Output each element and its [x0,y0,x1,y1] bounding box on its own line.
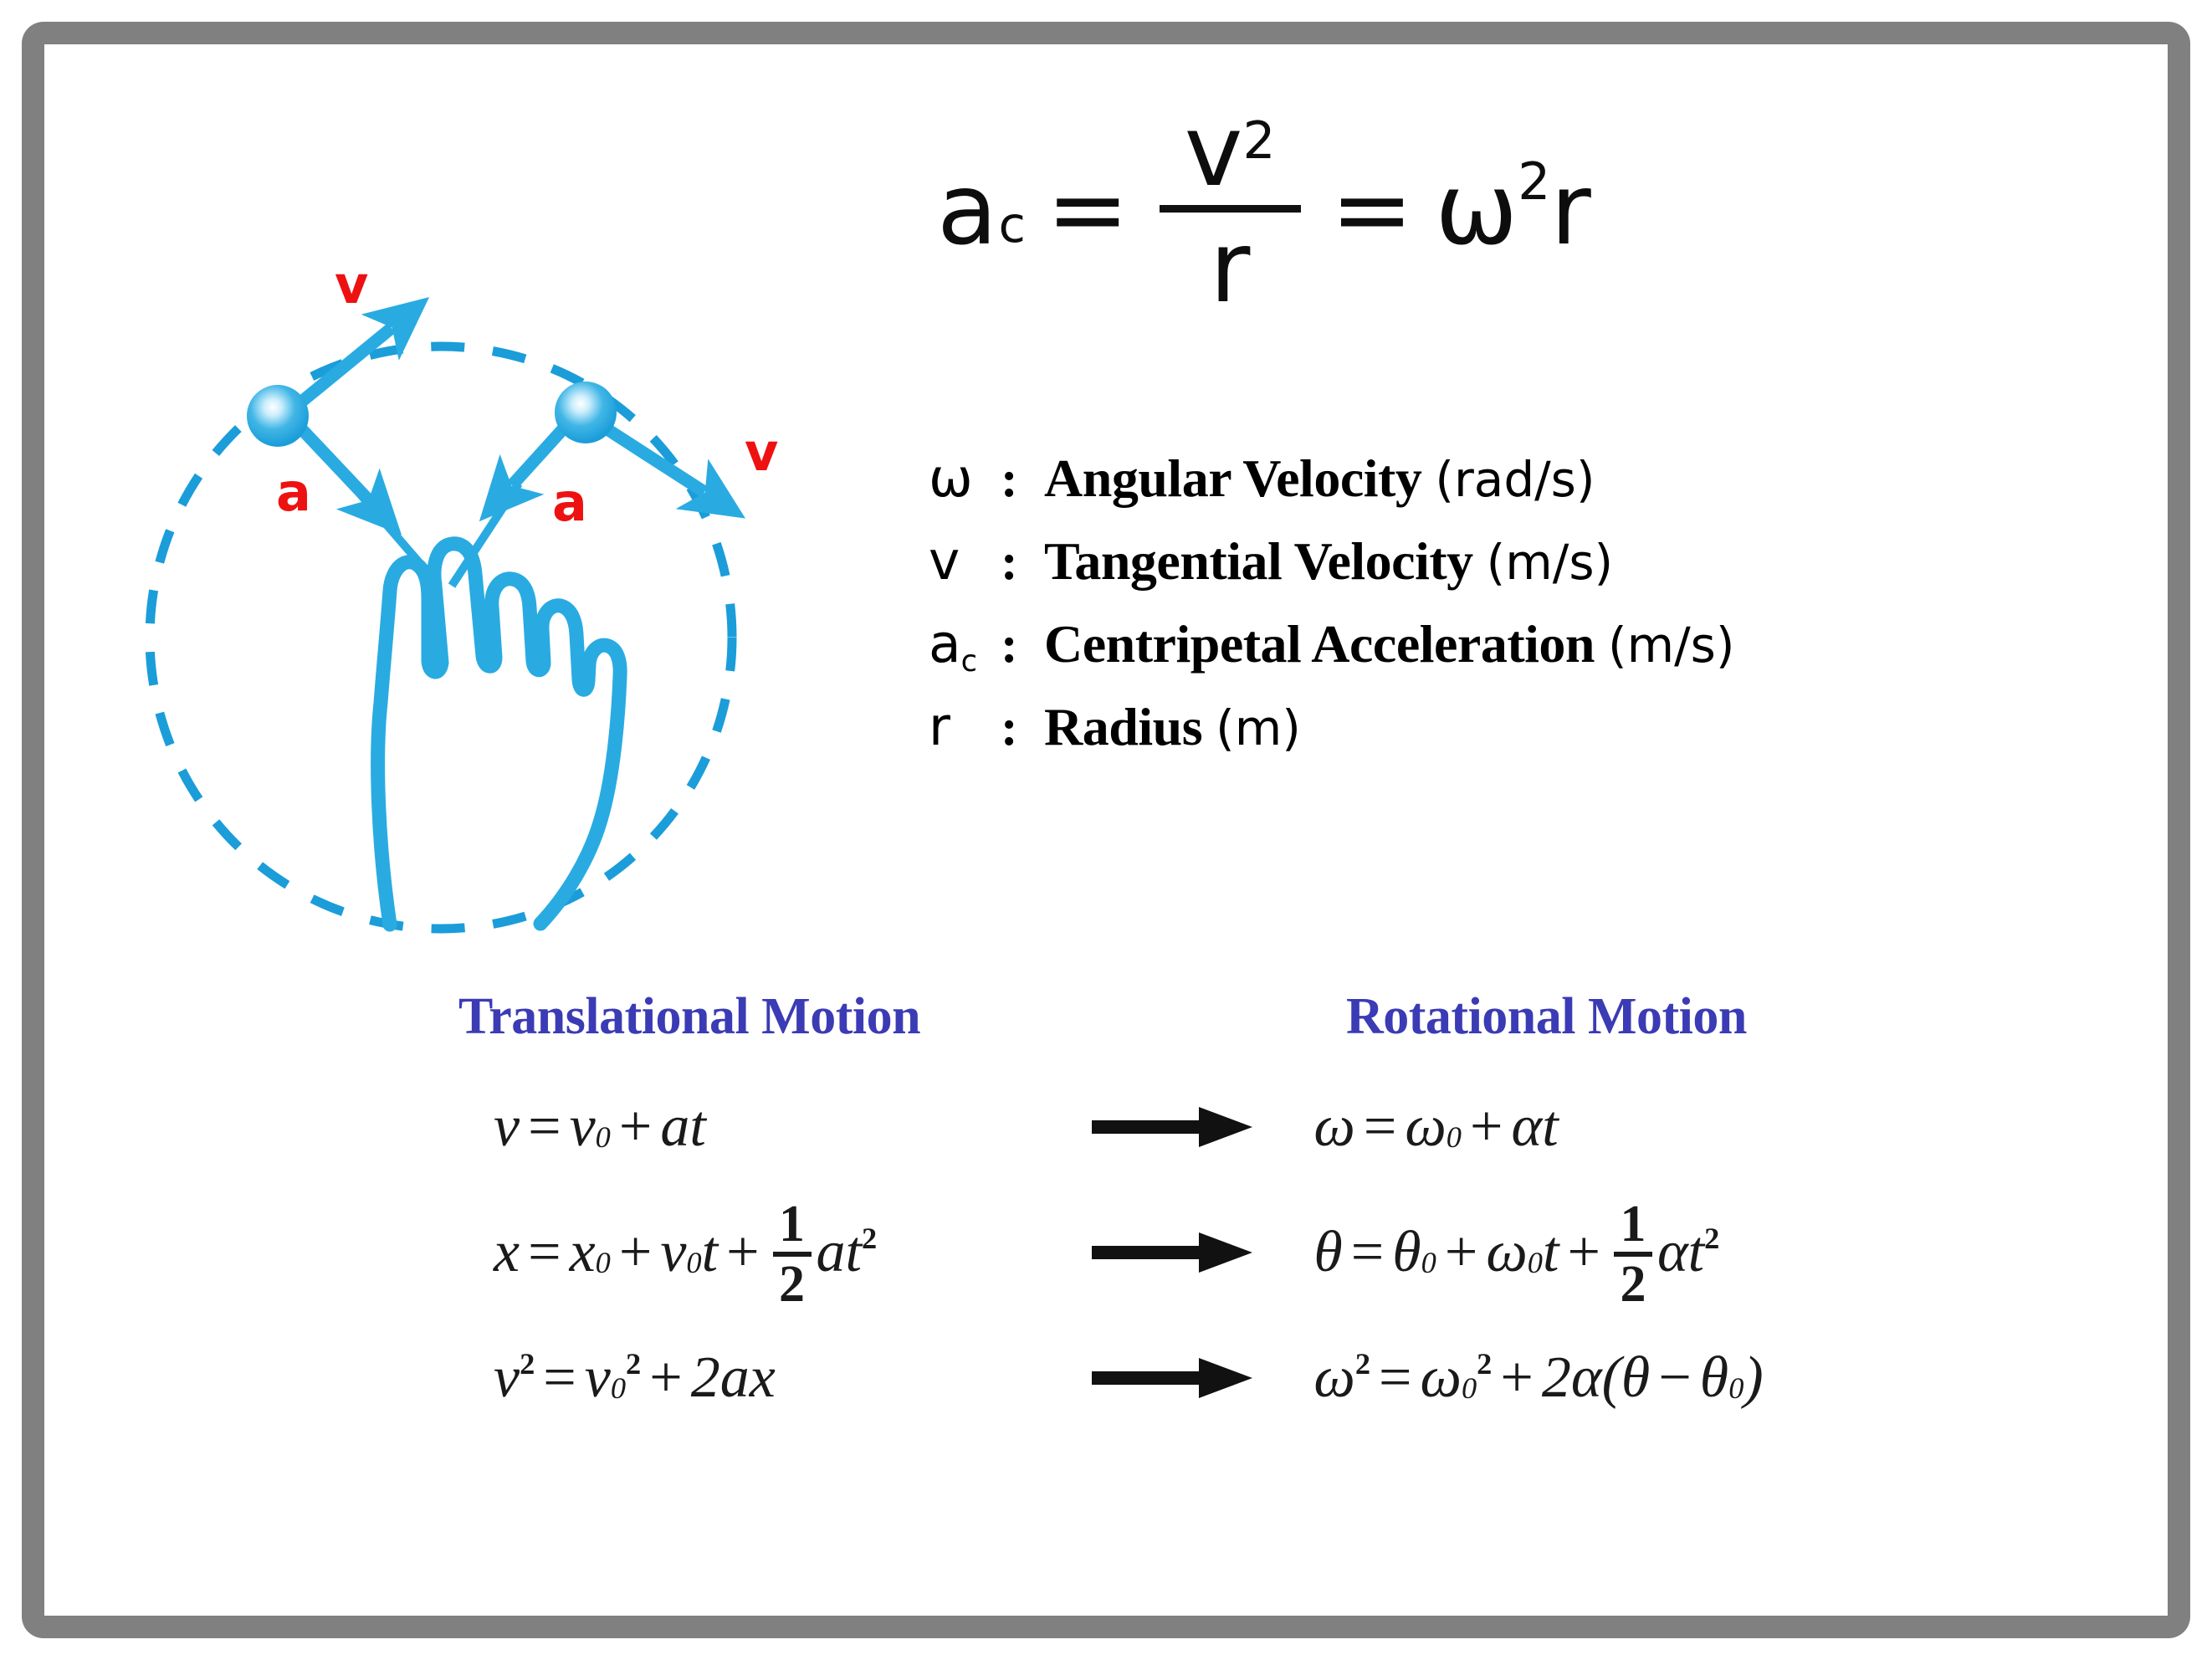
legend-item-tangential-velocity: v : Tangential Velocity (m/s) [929,530,1735,613]
particle-right [555,382,617,443]
formula-equals-1: = [1047,160,1129,259]
legend-symbol-omega: ω [929,448,1001,509]
equation-rotational-2: θ = θ0 + ω0t + 1 2 αt2 [1288,1195,1924,1310]
formula-radius: r [1550,160,1591,259]
poster-root: v a a v ac = v2 r = ω2r ω : Angular Velo… [0,0,2212,1660]
maps-to-arrow-icon [1056,1348,1288,1408]
equation-rotational-3: ω2 = ω02 + 2α(θ − θ0) [1288,1345,1924,1412]
legend-symbol-ac-subscript: c [961,644,977,679]
table-row: v = v0 + at ω = ω0 + αt [452,1064,1924,1190]
table-row: v2 = v02 + 2ax ω2 = ω02 + 2α(θ − θ0) [452,1315,1924,1441]
kinematics-comparison-table: Translational Motion Rotational Motion v… [452,987,1924,1441]
equation-translational-1: v = v0 + at [452,1094,1056,1160]
legend-colon-2: : [1001,616,1044,675]
velocity-label-left: v [335,259,368,311]
formula-fraction: v2 r [1160,96,1301,321]
acceleration-label-right: a [552,477,587,529]
formula-lhs-subscript: c [998,200,1025,249]
symbol-legend: ω : Angular Velocity (rad/s) v : Tangent… [929,448,1735,779]
legend-name-tangential-velocity: Tangential Velocity [1044,530,1473,592]
formula-denominator: r [1185,213,1276,321]
legend-symbol-r: r [929,696,1001,757]
legend-name-angular-velocity: Angular Velocity [1044,448,1421,510]
maps-to-arrow-icon [1056,1222,1288,1283]
formula-equals-2: = [1331,160,1414,259]
velocity-label-right: v [745,427,778,479]
particle-left [247,385,309,447]
legend-colon-3: : [1001,699,1044,758]
velocity-vector-left [294,328,392,407]
formula-omega: ω [1435,160,1518,259]
formula-numerator-exponent: 2 [1242,111,1275,171]
centripetal-acceleration-formula: ac = v2 r = ω2r [937,96,1591,321]
legend-unit-radius: (m) [1216,699,1301,756]
one-half-fraction: 1 2 [1614,1196,1652,1312]
legend-name-radius: Radius [1044,696,1202,758]
header-rotational-motion: Rotational Motion [1037,987,1924,1047]
legend-item-angular-velocity: ω : Angular Velocity (rad/s) [929,448,1735,530]
acceleration-tail-right [452,484,519,586]
kinematics-table-header: Translational Motion Rotational Motion [452,987,1924,1064]
formula-lhs: a [937,160,997,259]
legend-colon-0: : [1001,450,1044,510]
legend-item-radius: r : Radius (m) [929,696,1735,779]
legend-symbol-ac: ac [929,613,1001,674]
formula-omega-exponent: 2 [1518,156,1550,207]
one-half-fraction: 1 2 [773,1196,812,1312]
header-translational-motion: Translational Motion [452,987,1037,1047]
legend-item-centripetal-acceleration: ac : Centripetal Acceleration (m/s) [929,613,1735,696]
legend-name-centripetal-acceleration: Centripetal Acceleration [1044,613,1595,675]
formula-numerator: v2 [1160,96,1301,205]
table-row: x = x0 + v0t + 1 2 at2 θ = [452,1190,1924,1315]
legend-colon-1: : [1001,533,1044,592]
velocity-vector-right [601,425,704,492]
legend-unit-tangential-velocity: (m/s) [1487,534,1614,591]
equation-rotational-1: ω = ω0 + αt [1288,1094,1924,1160]
hand-outline-icon [378,544,621,925]
legend-unit-centripetal-acceleration: (m/s) [1608,617,1735,674]
maps-to-arrow-icon [1056,1097,1288,1157]
equation-translational-2: x = x0 + v0t + 1 2 at2 [452,1195,1056,1310]
acceleration-label-left: a [276,467,311,519]
legend-unit-angular-velocity: (rad/s) [1435,451,1595,508]
legend-symbol-v: v [929,530,1001,592]
equation-translational-3: v2 = v02 + 2ax [452,1345,1056,1412]
